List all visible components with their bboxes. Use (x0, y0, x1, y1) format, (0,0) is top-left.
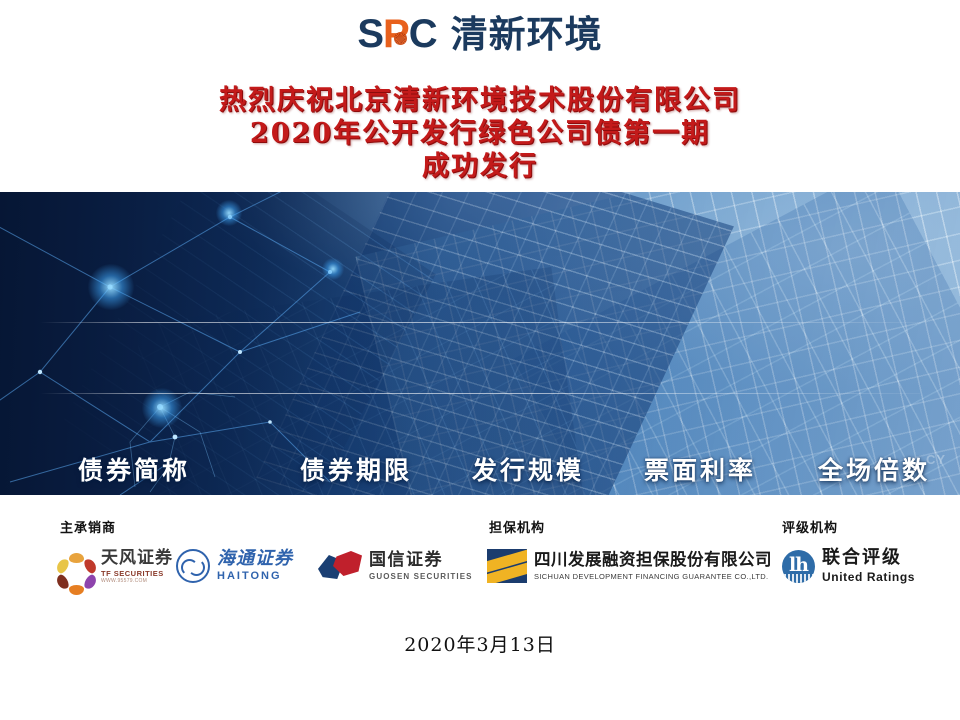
sichuan-name-cn: 四川发展融资担保股份有限公司 (534, 552, 772, 569)
title-line-1: 热烈庆祝北京清新环境技术股份有限公司 (0, 84, 960, 117)
header-bond-tenor: 债券期限 (268, 456, 444, 486)
logo-letter-c: C (409, 14, 437, 54)
header-coupon-rate: 票面利率 (612, 456, 788, 486)
united-ratings-monogram-icon: lh (782, 550, 815, 583)
sichuan-z-icon (487, 549, 527, 583)
logo-united-ratings: lh 联合评级 United Ratings (782, 549, 915, 583)
guosen-chevron-icon (318, 551, 362, 581)
tf-pinwheel-icon (58, 549, 94, 585)
sichuan-text: 四川发展融资担保股份有限公司 SICHUAN DEVELOPMENT FINAN… (534, 552, 772, 581)
tf-name-en: TF SECURITIES (101, 570, 173, 578)
logo-letter-p: P (383, 14, 409, 54)
bond-issuance-poster: S P C 清新环境 热烈庆祝北京清新环境技术股份有限公司 2020年公开发行绿… (0, 0, 960, 720)
haitong-emblem-icon (176, 549, 210, 583)
title-line-3: 成功发行 (0, 150, 960, 183)
haitong-name-cn: 海通证券 (217, 550, 293, 568)
logo-haitong-securities: 海通证券 HAITONG (176, 549, 293, 583)
logo-guosen-securities: 国信证券 GUOSEN SECURITIES (318, 551, 473, 581)
label-underwriters: 主承销商 (60, 517, 116, 536)
company-name-cn: 清新环境 (451, 16, 603, 53)
header-bond-short-name: 债券简称 (0, 456, 268, 486)
haitong-text: 海通证券 HAITONG (217, 550, 293, 582)
bond-summary-table: 债券简称 债券期限 发行规模 票面利率 全场倍数 20清新G1 149060 3… (0, 192, 960, 495)
guosen-name-en: GUOSEN SECURITIES (369, 573, 473, 581)
hero-banner: 债券简称 债券期限 发行规模 票面利率 全场倍数 20清新G1 149060 3… (0, 192, 960, 495)
banner-watermark: CY (926, 452, 946, 467)
title-line-2: 2020年公开发行绿色公司债第一期 (0, 117, 960, 150)
logo-letter-s: S (357, 14, 383, 54)
partners-section: 主承销商 担保机构 评级机构 天风证券 TF SECURITIES WWW.95… (0, 505, 960, 615)
tf-securities-text: 天风证券 TF SECURITIES WWW.95579.COM (101, 550, 173, 585)
header-issue-size: 发行规模 (444, 456, 612, 486)
tf-name-cn: 天风证券 (101, 550, 173, 567)
label-guarantor: 担保机构 (489, 517, 545, 536)
page-title: 热烈庆祝北京清新环境技术股份有限公司 2020年公开发行绿色公司债第一期 成功发… (0, 84, 960, 183)
united-ratings-name-en: United Ratings (822, 571, 915, 583)
company-logo: S P C 清新环境 (0, 14, 960, 54)
table-header-row: 债券简称 债券期限 发行规模 票面利率 全场倍数 (0, 456, 960, 486)
guosen-name-cn: 国信证券 (369, 552, 473, 569)
sichuan-name-en: SICHUAN DEVELOPMENT FINANCING GUARANTEE … (534, 573, 772, 581)
guosen-text: 国信证券 GUOSEN SECURITIES (369, 552, 473, 581)
logo-tf-securities: 天风证券 TF SECURITIES WWW.95579.COM (58, 549, 173, 585)
swirl-icon (394, 32, 407, 45)
label-rating-agency: 评级机构 (782, 517, 838, 536)
united-ratings-monogram-text: lh (782, 550, 815, 583)
united-ratings-text: 联合评级 United Ratings (822, 549, 915, 583)
haitong-name-en: HAITONG (217, 571, 293, 582)
tf-url: WWW.95579.COM (101, 579, 173, 584)
issue-date: 2020年3月13日 (0, 630, 960, 657)
logo-sichuan-development: 四川发展融资担保股份有限公司 SICHUAN DEVELOPMENT FINAN… (487, 549, 772, 583)
united-ratings-name-cn: 联合评级 (822, 549, 915, 567)
spc-logomark: S P C (357, 14, 436, 54)
